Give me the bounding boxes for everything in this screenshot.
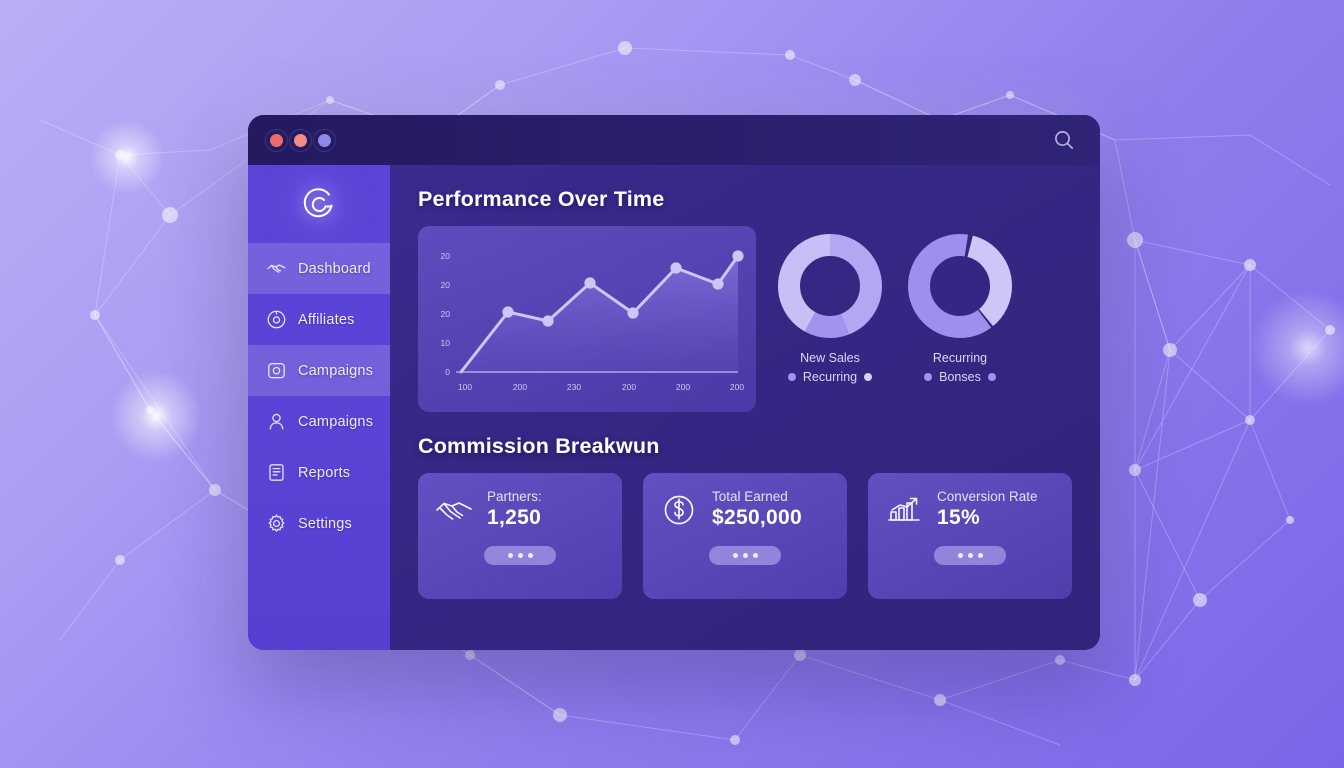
dot-icon — [733, 553, 738, 558]
circular-c-logo-icon[interactable] — [297, 182, 341, 226]
card-label: Total Earned — [712, 489, 802, 504]
sidebar-item-label: Campaigns — [298, 363, 373, 379]
card-label: Partners: — [487, 489, 542, 504]
sidebar-item-campaigns-2[interactable]: Campaigns — [248, 396, 390, 447]
card-value: $250,000 — [712, 506, 802, 530]
donut-new-sales-svg — [774, 230, 886, 342]
sidebar-item-label: Reports — [298, 465, 350, 481]
handshake-icon — [434, 490, 474, 530]
sidebar-item-label: Settings — [298, 516, 352, 532]
handshake-icon — [266, 258, 287, 279]
search-icon[interactable] — [1052, 128, 1076, 152]
y-tick-label: 0 — [445, 367, 450, 377]
donut-charts-group: New Sales Recurring — [774, 226, 1016, 384]
dot-icon — [958, 553, 963, 558]
legend-dot-icon — [788, 373, 796, 381]
chart-area-fill — [461, 256, 738, 372]
y-tick-label: 20 — [441, 251, 451, 261]
performance-row: 20 20 20 10 0 — [418, 226, 1074, 412]
card-header: Conversion Rate 15% — [884, 489, 1056, 530]
performance-line-chart: 20 20 20 10 0 — [418, 226, 756, 412]
window-titlebar — [248, 115, 1100, 165]
y-tick-label: 20 — [441, 280, 451, 290]
dot-icon — [518, 553, 523, 558]
sidebar-item-campaigns[interactable]: Campaigns — [248, 345, 390, 396]
commission-breakdown-title: Commission Breakwun — [418, 434, 1074, 459]
card-more-options-button[interactable] — [934, 546, 1006, 565]
line-chart-svg: 20 20 20 10 0 — [418, 226, 756, 412]
card-label: Conversion Rate — [937, 489, 1038, 504]
square-camera-icon — [266, 360, 287, 381]
sidebar-item-label: Dashboard — [298, 261, 371, 277]
window-minimize-button[interactable] — [294, 134, 307, 147]
document-report-icon — [266, 462, 287, 483]
main-content: Performance Over Time 20 20 20 — [390, 165, 1100, 650]
page-title: Performance Over Time — [418, 187, 1074, 212]
dot-icon — [978, 553, 983, 558]
stat-card-conversion-rate: Conversion Rate 15% — [868, 473, 1072, 599]
sidebar: Dashboard Affiliates Campaigns — [248, 165, 390, 650]
y-tick-label: 20 — [441, 309, 451, 319]
bar-chart-up-icon — [884, 490, 924, 530]
dot-icon — [528, 553, 533, 558]
x-tick-label: 200 — [513, 382, 527, 392]
sidebar-item-settings[interactable]: Settings — [248, 498, 390, 549]
dollar-circle-icon — [659, 490, 699, 530]
donut-title: Recurring — [904, 351, 1016, 365]
dot-icon — [508, 553, 513, 558]
legend-dot-icon — [864, 373, 872, 381]
x-tick-label: 230 — [567, 382, 581, 392]
app-window: Dashboard Affiliates Campaigns — [248, 115, 1100, 650]
window-maximize-button[interactable] — [318, 134, 331, 147]
stat-card-partners: Partners: 1,250 — [418, 473, 622, 599]
y-tick-label: 10 — [441, 338, 451, 348]
stat-cards-row: Partners: 1,250 — [418, 473, 1074, 599]
dot-icon — [743, 553, 748, 558]
donut-chart-recurring: Recurring Bonses — [904, 230, 1016, 384]
legend-label: Bonses — [939, 370, 981, 384]
donut-legend: Bonses — [904, 370, 1016, 384]
user-icon — [266, 411, 287, 432]
sidebar-item-label: Affiliates — [298, 312, 355, 328]
card-more-options-button[interactable] — [484, 546, 556, 565]
stat-card-total-earned: Total Earned $250,000 — [643, 473, 847, 599]
legend-dot-icon — [988, 373, 996, 381]
logo-container — [248, 165, 390, 243]
card-value: 15% — [937, 506, 1038, 530]
sidebar-item-label: Campaigns — [298, 414, 373, 430]
legend-label: Recurring — [803, 370, 857, 384]
x-tick-label: 200 — [730, 382, 744, 392]
gear-icon — [266, 513, 287, 534]
sidebar-item-reports[interactable]: Reports — [248, 447, 390, 498]
card-more-options-button[interactable] — [709, 546, 781, 565]
donut-legend: Recurring — [774, 370, 886, 384]
donut-recurring-svg — [904, 230, 1016, 342]
card-header: Total Earned $250,000 — [659, 489, 831, 530]
card-header: Partners: 1,250 — [434, 489, 606, 530]
legend-dot-icon — [924, 373, 932, 381]
card-text: Total Earned $250,000 — [712, 489, 802, 530]
sidebar-item-affiliates[interactable]: Affiliates — [248, 294, 390, 345]
donut-title: New Sales — [774, 351, 886, 365]
target-shield-icon — [266, 309, 287, 330]
dot-icon — [753, 553, 758, 558]
dot-icon — [968, 553, 973, 558]
window-close-button[interactable] — [270, 134, 283, 147]
sidebar-item-dashboard[interactable]: Dashboard — [248, 243, 390, 294]
x-tick-label: 200 — [676, 382, 690, 392]
x-tick-label: 200 — [622, 382, 636, 392]
card-text: Partners: 1,250 — [487, 489, 542, 530]
window-body: Dashboard Affiliates Campaigns — [248, 165, 1100, 650]
card-text: Conversion Rate 15% — [937, 489, 1038, 530]
card-value: 1,250 — [487, 506, 542, 530]
donut-chart-new-sales: New Sales Recurring — [774, 230, 886, 384]
x-tick-label: 100 — [458, 382, 472, 392]
